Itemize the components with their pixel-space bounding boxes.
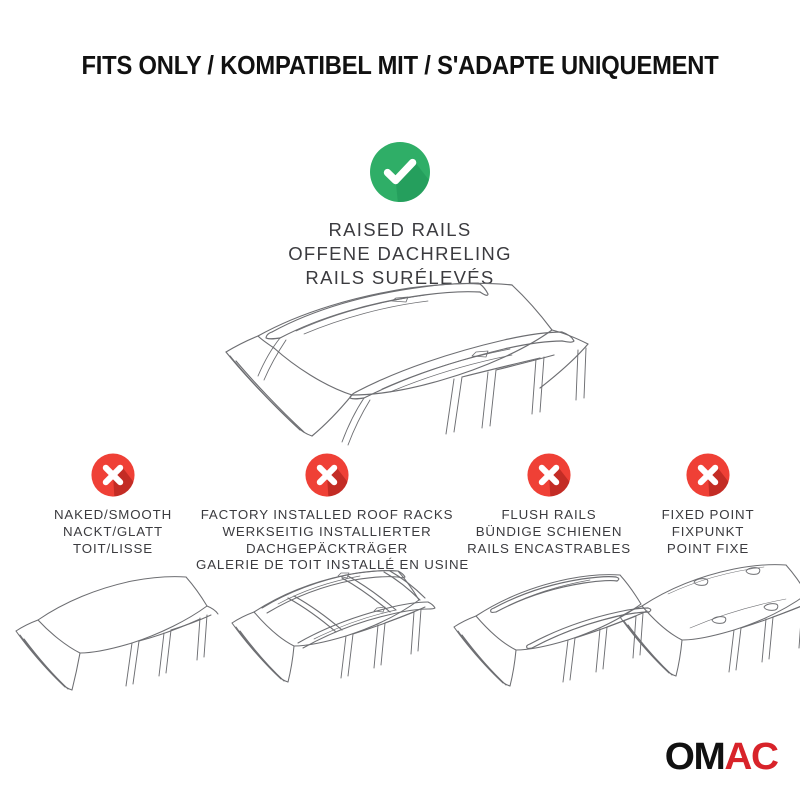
logo-text-dark: OM bbox=[665, 736, 725, 778]
car-roof-raised-rails-illustration bbox=[196, 276, 616, 461]
incompatible-item-flush-rails: FLUSH RAILS BÜNDIGE SCHIENEN RAILS ENCAS… bbox=[450, 452, 648, 557]
incompatible-item-naked-smooth: NAKED/SMOOTH NACKT/GLATT TOIT/LISSE bbox=[13, 452, 213, 557]
label-line: DACHGEPÄCKTRÄGER bbox=[196, 541, 458, 558]
label-line: FIXPUNKT bbox=[620, 524, 796, 541]
compatible-section: RAISED RAILS OFFENE DACHRELING RAILS SUR… bbox=[0, 140, 800, 290]
compatible-label-de: OFFENE DACHRELING bbox=[0, 242, 800, 266]
label-line: FLUSH RAILS bbox=[450, 507, 648, 524]
label-line: TOIT/LISSE bbox=[13, 541, 213, 558]
compatibility-infographic: FITS ONLY / KOMPATIBEL MIT / S'ADAPTE UN… bbox=[0, 0, 800, 800]
car-roof-fixed-point-illustration bbox=[608, 554, 800, 684]
incompatible-labels: FLUSH RAILS BÜNDIGE SCHIENEN RAILS ENCAS… bbox=[450, 507, 648, 557]
car-roof-factory-rack-illustration bbox=[218, 560, 438, 690]
incompatible-labels: FIXED POINT FIXPUNKT POINT FIXE bbox=[620, 507, 796, 557]
compatible-label-en: RAISED RAILS bbox=[0, 218, 800, 242]
label-line: NACKT/GLATT bbox=[13, 524, 213, 541]
label-line: NAKED/SMOOTH bbox=[13, 507, 213, 524]
incompatible-item-fixed-point: FIXED POINT FIXPUNKT POINT FIXE bbox=[620, 452, 796, 557]
label-line: BÜNDIGE SCHIENEN bbox=[450, 524, 648, 541]
label-line: FIXED POINT bbox=[620, 507, 796, 524]
red-x-icon bbox=[685, 452, 731, 498]
label-line: WERKSEITIG INSTALLIERTER bbox=[196, 524, 458, 541]
green-check-icon bbox=[368, 140, 432, 204]
red-x-icon bbox=[304, 452, 350, 498]
red-x-icon bbox=[526, 452, 572, 498]
label-line: FACTORY INSTALLED ROOF RACKS bbox=[196, 507, 458, 524]
logo-text-red: AC bbox=[725, 736, 778, 778]
page-title: FITS ONLY / KOMPATIBEL MIT / S'ADAPTE UN… bbox=[28, 52, 772, 81]
car-roof-naked-smooth-illustration bbox=[8, 564, 218, 694]
incompatible-item-factory-rack: FACTORY INSTALLED ROOF RACKS WERKSEITIG … bbox=[196, 452, 458, 574]
incompatible-section: NAKED/SMOOTH NACKT/GLATT TOIT/LISSE bbox=[0, 452, 800, 712]
red-x-icon bbox=[90, 452, 136, 498]
omac-logo: OMAC bbox=[665, 738, 778, 776]
incompatible-labels: NAKED/SMOOTH NACKT/GLATT TOIT/LISSE bbox=[13, 507, 213, 557]
